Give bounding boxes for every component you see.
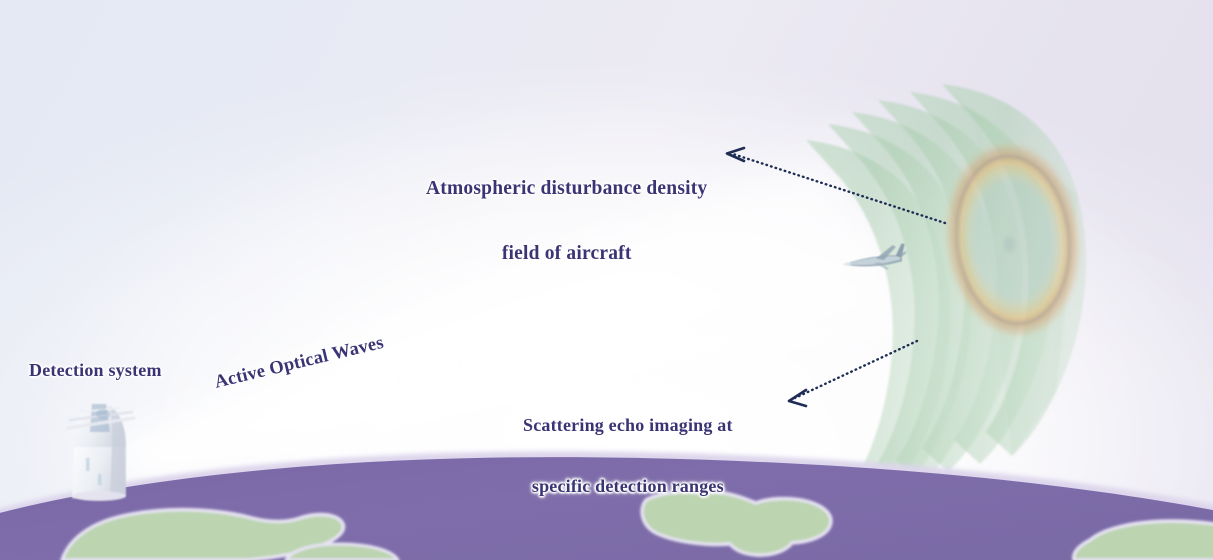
label-scattering-echo-imaging: Scattering echo imaging at specific dete… <box>523 375 733 536</box>
label-atmospheric-disturbance-field: Atmospheric disturbance density field of… <box>426 134 707 309</box>
figure-canvas: Atmospheric disturbance density field of… <box>0 0 1213 560</box>
label-detection-system: Detection system <box>29 360 162 380</box>
label-atmospheric-line2: field of aircraft <box>426 243 707 265</box>
label-scattering-line1: Scattering echo imaging at <box>523 415 733 435</box>
label-atmospheric-line1: Atmospheric disturbance density <box>426 178 707 200</box>
label-scattering-line2: specific detection ranges <box>523 476 733 496</box>
observatory-dome <box>68 404 134 501</box>
